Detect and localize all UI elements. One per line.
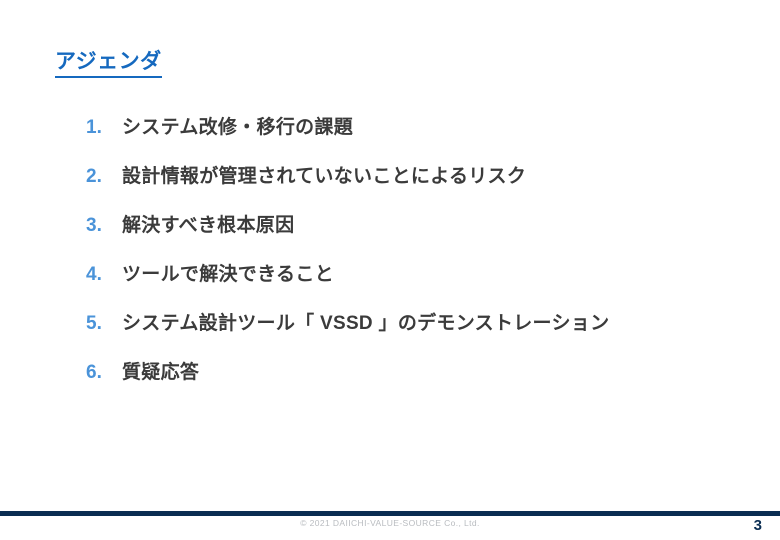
list-item[interactable]: 3. 解決すべき根本原因	[86, 210, 746, 259]
list-item-label: 解決すべき根本原因	[122, 210, 746, 237]
list-item-number: 3.	[86, 215, 122, 237]
list-item-number: 2.	[86, 166, 122, 188]
list-item-number: 6.	[86, 362, 122, 384]
list-item-label: システム改修・移行の課題	[122, 112, 746, 139]
presentation-slide: アジェンダ 1. システム改修・移行の課題 2. 設計情報が管理されていないこと…	[0, 0, 780, 540]
list-item[interactable]: 1. システム改修・移行の課題	[86, 112, 746, 161]
page-number: 3	[754, 517, 762, 534]
list-item-number: 4.	[86, 264, 122, 286]
list-item-label: システム設計ツール「 VSSD 」のデモンストレーション	[122, 308, 746, 335]
agenda-list: 1. システム改修・移行の課題 2. 設計情報が管理されていないことによるリスク…	[86, 112, 746, 406]
list-item-label: ツールで解決できること	[122, 259, 746, 286]
list-item-label: 設計情報が管理されていないことによるリスク	[122, 161, 746, 188]
list-item-number: 5.	[86, 313, 122, 335]
copyright-text: © 2021 DAIICHI-VALUE-SOURCE Co., Ltd.	[0, 518, 780, 528]
list-item-number: 1.	[86, 117, 122, 139]
list-item-label: 質疑応答	[122, 357, 746, 384]
list-item[interactable]: 4. ツールで解決できること	[86, 259, 746, 308]
page-title: アジェンダ	[55, 50, 162, 78]
list-item[interactable]: 5. システム設計ツール「 VSSD 」のデモンストレーション	[86, 308, 746, 357]
list-item[interactable]: 2. 設計情報が管理されていないことによるリスク	[86, 161, 746, 210]
list-item[interactable]: 6. 質疑応答	[86, 357, 746, 406]
footer-divider	[0, 511, 780, 516]
